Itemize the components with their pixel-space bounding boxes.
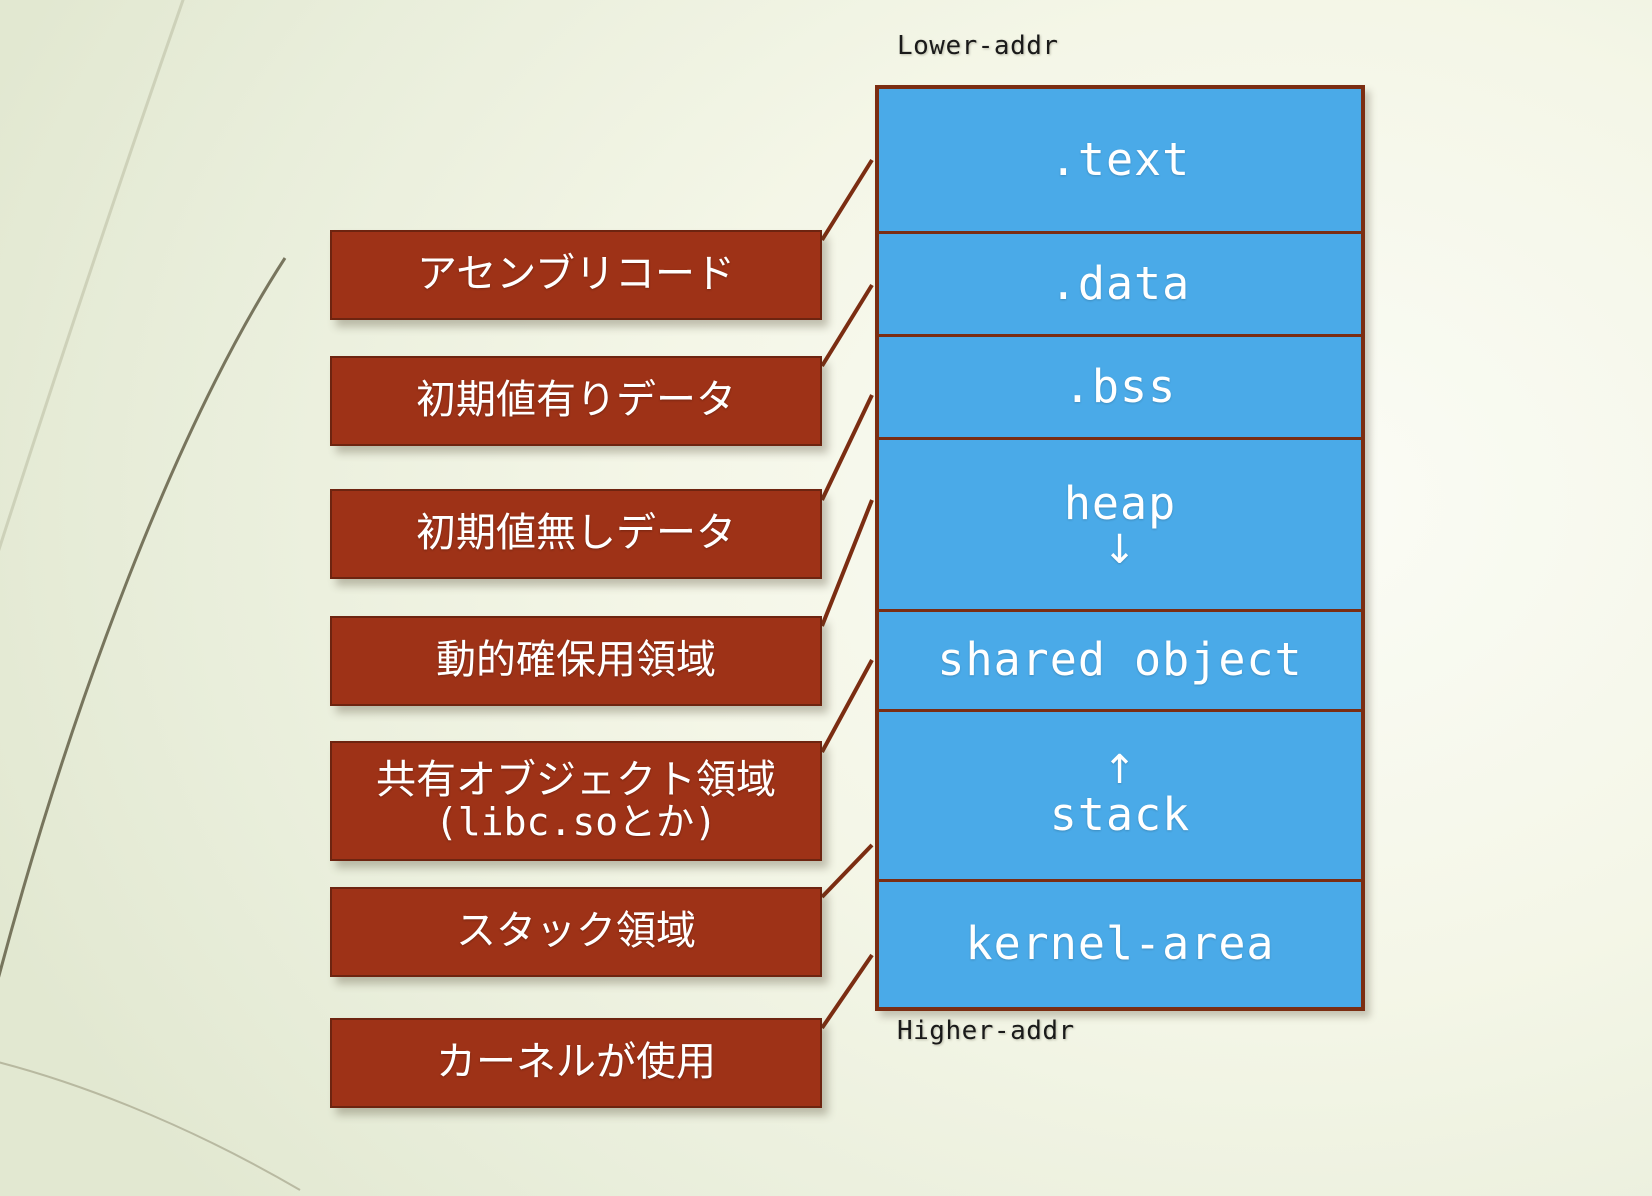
memory-segment-bss[interactable]: .bss bbox=[879, 337, 1361, 440]
callout-label: 初期値無しデータ bbox=[416, 512, 736, 555]
memory-segment-label: shared object bbox=[937, 635, 1302, 685]
callout-label: 初期値有りデータ bbox=[416, 379, 736, 422]
background-decorative-curves bbox=[0, 0, 1652, 1196]
callout-kernel-usage[interactable]: カーネルが使用 bbox=[330, 1018, 822, 1108]
higher-addr-label: Higher-addr bbox=[897, 1016, 1075, 1046]
memory-segment-kernel-area[interactable]: kernel-area bbox=[879, 882, 1361, 1007]
memory-segment-label: .text bbox=[1050, 135, 1190, 185]
callout-label: 共有オブジェクト領域 bbox=[376, 759, 776, 802]
memory-segment-label: stack bbox=[1050, 790, 1190, 840]
leader-lines-group bbox=[0, 0, 1652, 1196]
memory-segment-text[interactable]: .text bbox=[879, 89, 1361, 234]
memory-segment-stack[interactable]: ↑ stack bbox=[879, 712, 1361, 882]
callout-label: スタック領域 bbox=[456, 910, 696, 953]
memory-segment-label: .data bbox=[1050, 259, 1190, 309]
stack-grow-up-arrow-icon: ↑ bbox=[1103, 750, 1138, 790]
leader-line-data bbox=[822, 285, 872, 366]
leader-line-text bbox=[822, 160, 872, 240]
memory-segment-label: heap bbox=[1064, 479, 1176, 529]
callout-label: アセンブリコード bbox=[417, 253, 735, 296]
callout-sublabel: (libc.soとか) bbox=[376, 802, 776, 843]
callout-label: カーネルが使用 bbox=[436, 1041, 716, 1084]
memory-segment-heap[interactable]: heap ↓ bbox=[879, 440, 1361, 612]
memory-segment-label: kernel-area bbox=[965, 919, 1274, 969]
callout-stack-area[interactable]: スタック領域 bbox=[330, 887, 822, 977]
memory-segment-data[interactable]: .data bbox=[879, 234, 1361, 337]
memory-map-column: .text .data .bss heap ↓ shared object ↑ … bbox=[875, 85, 1365, 1011]
callout-initialized-data[interactable]: 初期値有りデータ bbox=[330, 356, 822, 446]
lower-addr-label: Lower-addr bbox=[897, 31, 1059, 61]
callout-assembly-code[interactable]: アセンブリコード bbox=[330, 230, 822, 320]
memory-segment-label: .bss bbox=[1064, 362, 1176, 412]
heap-grow-down-arrow-icon: ↓ bbox=[1103, 530, 1138, 570]
leader-line-stack bbox=[822, 845, 872, 897]
leader-line-bss bbox=[822, 395, 872, 500]
leader-line-heap bbox=[822, 500, 872, 626]
leader-line-shared-object bbox=[822, 660, 872, 752]
slide-canvas: Lower-addr Higher-addr .text .data .bss … bbox=[0, 0, 1652, 1196]
callout-label: 動的確保用領域 bbox=[436, 639, 716, 682]
callout-shared-object[interactable]: 共有オブジェクト領域 (libc.soとか) bbox=[330, 741, 822, 861]
leader-line-kernel bbox=[822, 955, 872, 1028]
callout-dynamic-alloc[interactable]: 動的確保用領域 bbox=[330, 616, 822, 706]
memory-segment-shared-object[interactable]: shared object bbox=[879, 612, 1361, 712]
callout-uninitialized-data[interactable]: 初期値無しデータ bbox=[330, 489, 822, 579]
